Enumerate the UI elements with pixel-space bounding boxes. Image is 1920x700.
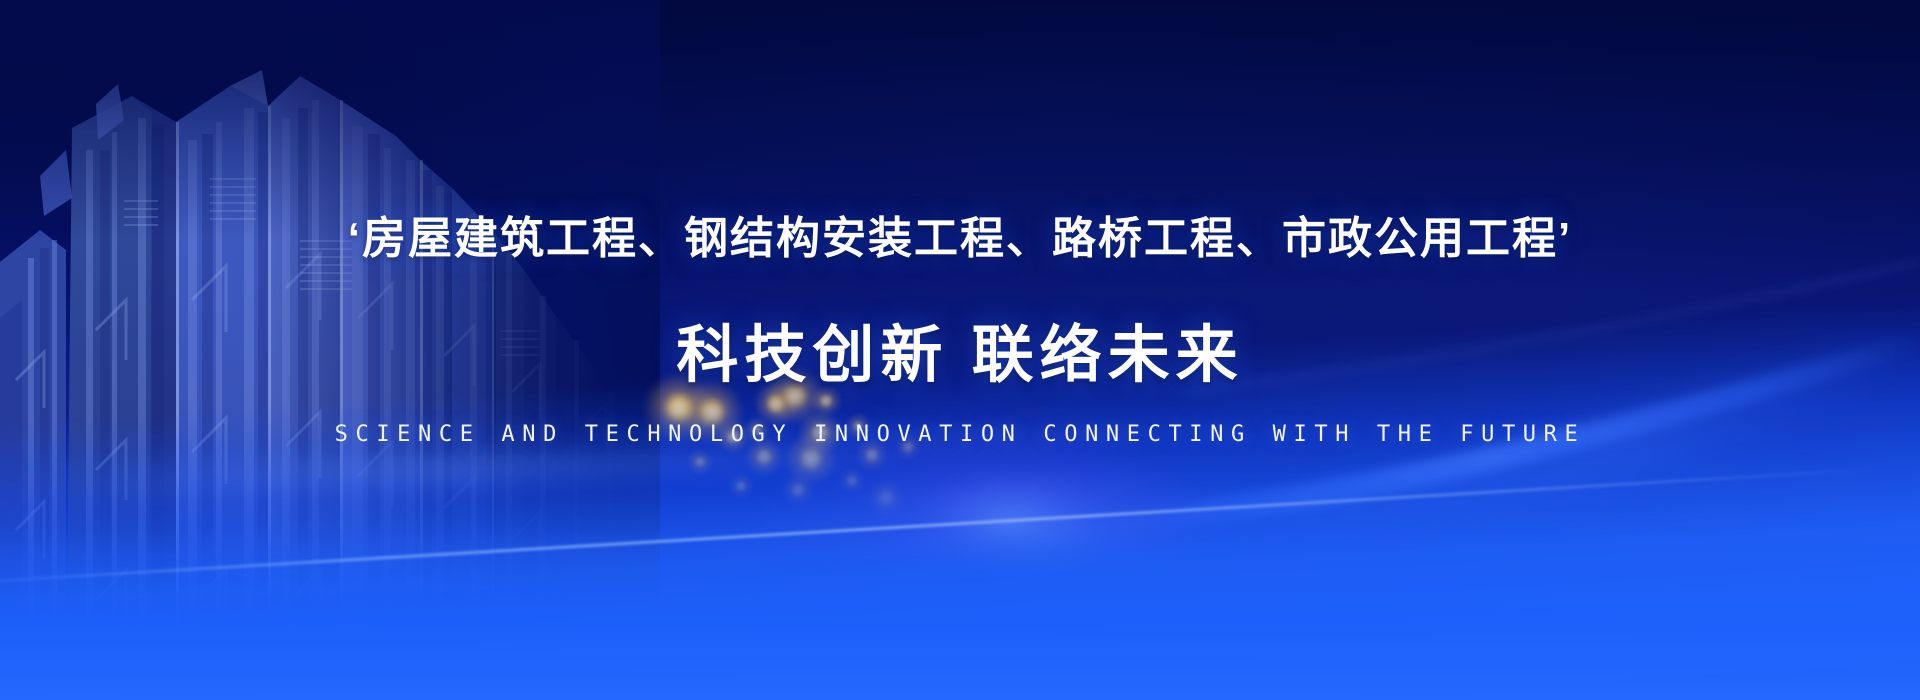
hero-banner: ‘房屋建筑工程、钢结构安装工程、路桥工程、市政公用工程’ 科技创新 联络未来 S… xyxy=(0,0,1920,700)
bottom-blue-light-sweep-lower xyxy=(0,530,1920,700)
